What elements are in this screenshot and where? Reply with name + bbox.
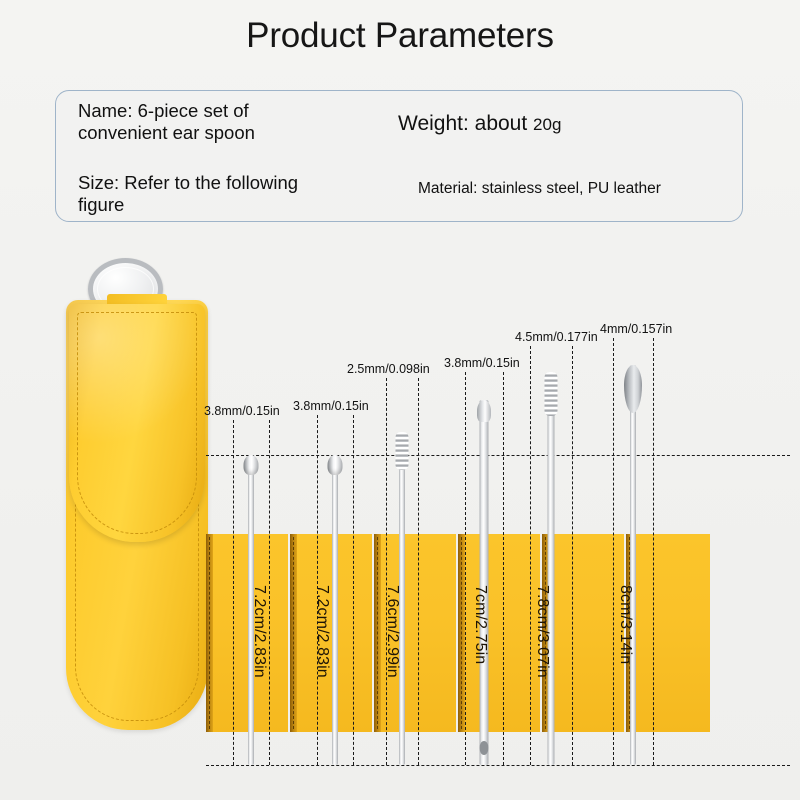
band-edge-stitching [461, 537, 462, 729]
width-label-tool-3: 2.5mm/0.098in [347, 362, 430, 376]
band-edge-3 [374, 534, 381, 732]
tool-6-oval-spoon [613, 365, 653, 765]
length-label-tool-6: 8cm/3.14in [616, 585, 634, 664]
width-label-tool-1: 3.8mm/0.15in [204, 404, 280, 418]
tool-tip-round-blade [477, 400, 491, 422]
width-label-tool-2: 3.8mm/0.15in [293, 399, 369, 413]
band-edge-stitching [377, 537, 378, 729]
length-label-tool-2: 7.2cm/2.83in [313, 585, 331, 678]
guide-line-tool-5-right [572, 346, 573, 765]
tool-tip-spiral-spring [545, 372, 558, 416]
length-label-tool-3: 7.6cm/2.99in [383, 585, 401, 678]
tool-5-spiral-spring [531, 372, 571, 765]
product-parameters-infographic: Product Parameters Name: 6-piece set of … [0, 0, 800, 800]
tool-shaft [548, 372, 555, 765]
band-edge-1 [206, 534, 213, 732]
width-label-tool-4: 3.8mm/0.15in [444, 356, 520, 370]
tool-hanging-hole [480, 741, 489, 755]
length-label-tool-5: 7.8cm/3.07in [533, 585, 551, 678]
width-label-tool-5: 4.5mm/0.177in [515, 330, 598, 344]
guide-line-tool-6-right [653, 338, 654, 765]
tool-4-round-blade [464, 400, 504, 765]
tool-measurement-diagram: 3.8mm/0.15in7.2cm/2.83in3.8mm/0.15in7.2c… [0, 0, 800, 800]
width-label-tool-6: 4mm/0.157in [600, 322, 672, 336]
tool-shaft [332, 455, 338, 765]
tool-tip-spiral-coil [396, 432, 409, 470]
tool-shaft [480, 400, 489, 765]
guide-line-baseline [206, 765, 790, 766]
tool-tip-curved-scoop [328, 455, 343, 475]
band-edge-stitching [209, 537, 210, 729]
length-label-tool-1: 7.2cm/2.83in [250, 585, 268, 678]
band-edge-stitching [293, 537, 294, 729]
length-label-tool-4: 7cm/2.75in [471, 585, 489, 664]
tool-tip-curved-scoop [244, 455, 259, 475]
tool-tip-oval-spoon [624, 365, 642, 413]
band-edge-2 [290, 534, 297, 732]
tool-shaft [630, 365, 636, 765]
